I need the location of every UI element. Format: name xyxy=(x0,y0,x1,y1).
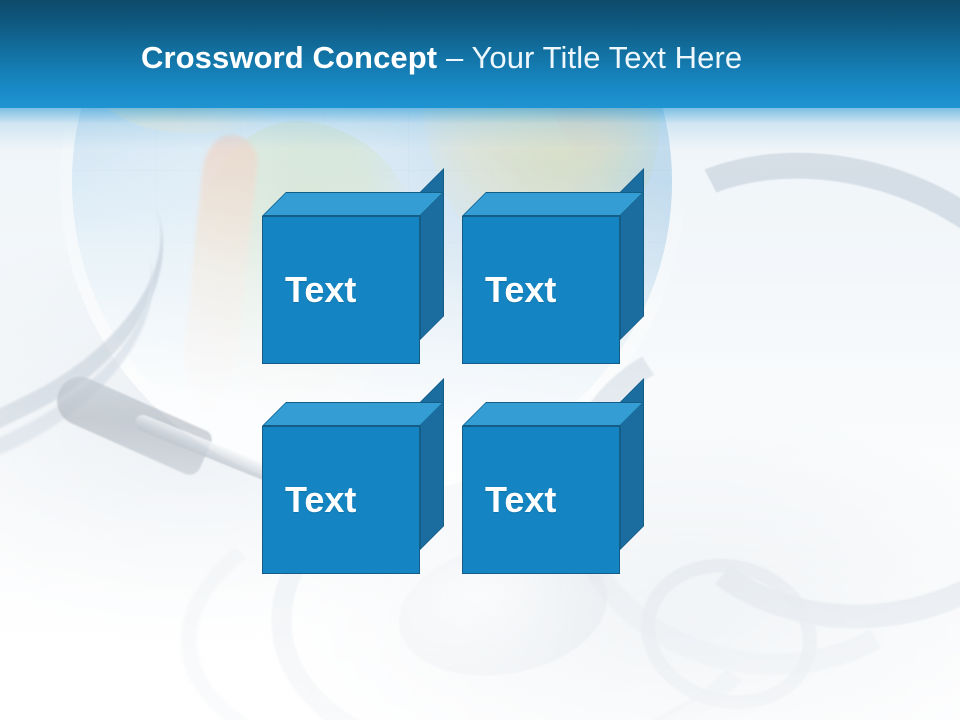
stethoscope-earpiece xyxy=(49,370,215,479)
block-label: Text xyxy=(485,482,556,518)
block-bottom-right[interactable]: Text xyxy=(462,402,620,574)
block-label: Text xyxy=(485,272,556,308)
block-front-face: Text xyxy=(262,216,420,364)
block-top-face xyxy=(462,402,644,426)
slide-canvas: Crossword Concept – Your Title Text Here… xyxy=(0,0,960,720)
page-title-rest: – Your Title Text Here xyxy=(437,40,742,75)
block-top-face xyxy=(262,402,444,426)
block-top-face xyxy=(262,192,444,216)
block-label: Text xyxy=(285,482,356,518)
block-top-face xyxy=(462,192,644,216)
block-bottom-left[interactable]: Text xyxy=(262,402,420,574)
page-title: Crossword Concept – Your Title Text Here xyxy=(141,42,742,73)
block-front-face: Text xyxy=(462,426,620,574)
slide-header-bar: Crossword Concept – Your Title Text Here xyxy=(0,0,960,108)
block-front-face: Text xyxy=(262,426,420,574)
block-label: Text xyxy=(285,272,356,308)
block-top-left[interactable]: Text xyxy=(262,192,420,364)
block-front-face: Text xyxy=(462,216,620,364)
page-title-strong: Crossword Concept xyxy=(141,40,437,75)
block-top-right[interactable]: Text xyxy=(462,192,620,364)
